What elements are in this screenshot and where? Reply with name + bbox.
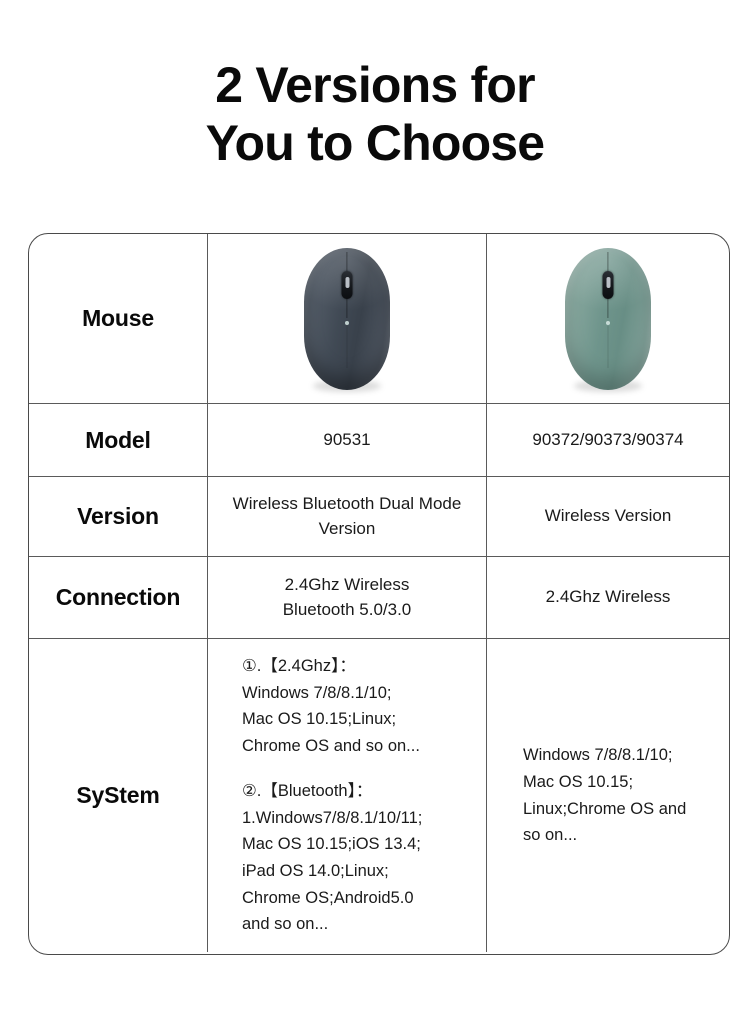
- product-comparison-page: 2 Versions for You to Choose Mouse: [0, 0, 750, 1010]
- mouse-scroll-wheel: [342, 271, 353, 299]
- page-title: 2 Versions for You to Choose: [0, 56, 750, 172]
- table-row-system: SyStem ①.【2.4Ghz】： Windows 7/8/8.1/10; M…: [29, 639, 729, 952]
- table-row-connection: Connection 2.4Ghz Wireless Bluetooth 5.0…: [29, 557, 729, 639]
- connection-value-b: 2.4Ghz Wireless: [546, 585, 671, 610]
- system-value-b: Windows 7/8/8.1/10; Mac OS 10.15; Linux;…: [497, 742, 719, 849]
- row-label-mouse: Mouse: [29, 234, 208, 403]
- table-row-model: Model 90531 90372/90373/90374: [29, 404, 729, 477]
- table-row-version: Version Wireless Bluetooth Dual Mode Ver…: [29, 477, 729, 557]
- row-label-model: Model: [29, 404, 208, 476]
- dark-slate-mouse-image: [304, 248, 390, 390]
- system-block-24ghz: ①.【2.4Ghz】： Windows 7/8/8.1/10; Mac OS 1…: [242, 653, 420, 760]
- model-value-a: 90531: [323, 428, 370, 453]
- mouse-scroll-wheel: [603, 271, 614, 299]
- sage-green-mouse-image: [565, 248, 651, 390]
- system-text-group-a: ①.【2.4Ghz】： Windows 7/8/8.1/10; Mac OS 1…: [216, 653, 478, 938]
- cell-system-variant-b: Windows 7/8/8.1/10; Mac OS 10.15; Linux;…: [487, 639, 729, 952]
- cell-model-variant-a: 90531: [208, 404, 487, 476]
- version-value-b: Wireless Version: [545, 504, 672, 529]
- cell-version-variant-b: Wireless Version: [487, 477, 729, 556]
- version-value-a: Wireless Bluetooth Dual Mode Version: [216, 492, 478, 541]
- page-title-line-1: 2 Versions for: [0, 56, 750, 114]
- model-value-b: 90372/90373/90374: [532, 428, 683, 453]
- cell-mouse-variant-b: [487, 234, 729, 403]
- mouse-lower-seam-line: [608, 326, 609, 368]
- connection-value-a: 2.4Ghz Wireless Bluetooth 5.0/3.0: [283, 573, 412, 622]
- cell-system-variant-a: ①.【2.4Ghz】： Windows 7/8/8.1/10; Mac OS 1…: [208, 639, 487, 952]
- cell-model-variant-b: 90372/90373/90374: [487, 404, 729, 476]
- mouse-lower-seam-line: [347, 326, 348, 368]
- comparison-table: Mouse: [28, 233, 730, 955]
- system-block-bluetooth: ②.【Bluetooth】： 1.Windows7/8/8.1/10/11; M…: [242, 778, 422, 938]
- cell-mouse-variant-a: [208, 234, 487, 403]
- table-row-mouse: Mouse: [29, 234, 729, 404]
- page-title-line-2: You to Choose: [0, 114, 750, 172]
- row-label-version: Version: [29, 477, 208, 556]
- mouse-led-indicator: [606, 321, 610, 325]
- cell-connection-variant-a: 2.4Ghz Wireless Bluetooth 5.0/3.0: [208, 557, 487, 638]
- mouse-led-indicator: [345, 321, 349, 325]
- cell-version-variant-a: Wireless Bluetooth Dual Mode Version: [208, 477, 487, 556]
- cell-connection-variant-b: 2.4Ghz Wireless: [487, 557, 729, 638]
- row-label-system: SyStem: [29, 639, 208, 952]
- row-label-connection: Connection: [29, 557, 208, 638]
